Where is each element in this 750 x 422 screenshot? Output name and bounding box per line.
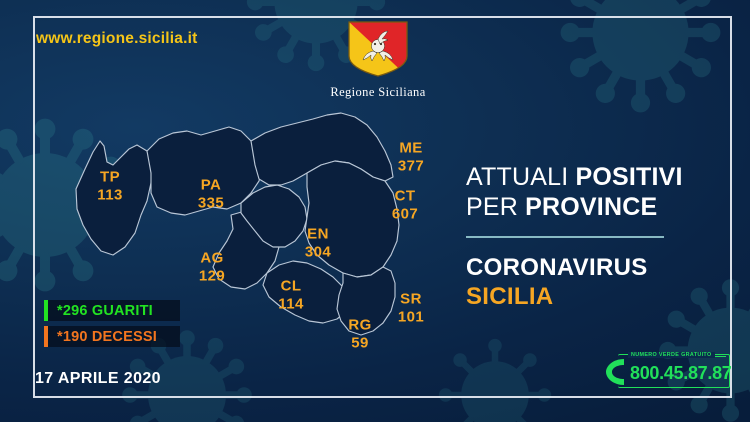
headline-line-1: ATTUALI POSITIVI — [466, 163, 706, 193]
trinacria-emblem-icon — [347, 20, 409, 78]
province-code-ct: CT — [392, 188, 418, 204]
logo-caption: Regione Siciliana — [323, 85, 433, 100]
infographic-canvas: www.regione.sicilia.it Region — [0, 0, 750, 422]
province-code-rg: RG — [348, 317, 371, 333]
virus-particle-icon — [548, 0, 733, 125]
province-label-en[interactable]: EN 304 — [305, 226, 331, 260]
province-value-sr: 101 — [398, 309, 424, 325]
regione-siciliana-logo: Regione Siciliana — [323, 20, 433, 100]
stat-guariti-label: *296 GUARITI — [48, 303, 153, 319]
province-label-tp[interactable]: TP 113 — [97, 169, 122, 203]
province-code-pa: PA — [198, 177, 224, 193]
date-label: 17 APRILE 2020 — [35, 370, 161, 388]
province-value-pa: 335 — [198, 195, 224, 211]
brand-coronavirus: CORONAVIRUS — [466, 254, 706, 283]
province-value-en: 304 — [305, 244, 331, 260]
province-label-ct[interactable]: CT 607 — [392, 188, 418, 222]
province-label-cl[interactable]: CL 114 — [278, 278, 303, 312]
toll-free-number: 800.45.87.87 — [630, 363, 732, 384]
headline-positivi: POSITIVI — [576, 163, 683, 191]
stat-guariti: *296 GUARITI — [44, 300, 180, 321]
province-label-sr[interactable]: SR 101 — [398, 291, 424, 325]
headline-block: ATTUALI POSITIVI PER PROVINCE CORONAVIRU… — [466, 163, 706, 312]
province-label-me[interactable]: ME 377 — [398, 140, 424, 174]
website-url[interactable]: www.regione.sicilia.it — [36, 30, 197, 48]
province-code-sr: SR — [398, 291, 424, 307]
province-code-ag: AG — [199, 250, 225, 266]
headline-province: PROVINCE — [525, 193, 657, 221]
province-label-ag[interactable]: AG 129 — [199, 250, 225, 284]
province-code-en: EN — [305, 226, 331, 242]
stat-decessi: *190 DECESSI — [44, 326, 180, 347]
stat-decessi-label: *190 DECESSI — [48, 329, 157, 345]
province-value-ag: 129 — [199, 268, 225, 284]
province-code-me: ME — [398, 140, 424, 156]
province-value-tp: 113 — [97, 187, 122, 203]
toll-free-number-block[interactable]: NUMERO VERDE GRATUITO 800.45.87.87 — [604, 354, 730, 388]
phone-handset-icon — [604, 357, 628, 387]
province-label-pa[interactable]: PA 335 — [198, 177, 224, 211]
province-shape-rg[interactable] — [263, 261, 349, 323]
headline-divider — [466, 236, 664, 238]
toll-free-caption: NUMERO VERDE GRATUITO — [628, 352, 715, 358]
province-label-rg[interactable]: RG 59 — [348, 317, 371, 351]
province-value-cl: 114 — [278, 296, 303, 312]
province-value-rg: 59 — [348, 335, 371, 351]
province-value-me: 377 — [398, 158, 424, 174]
brand-sicilia: SICILIA — [466, 283, 706, 312]
province-code-tp: TP — [97, 169, 122, 185]
province-value-ct: 607 — [392, 206, 418, 222]
province-code-cl: CL — [278, 278, 303, 294]
headline-line-2: PER PROVINCE — [466, 193, 706, 223]
headline-attuali: ATTUALI — [466, 163, 576, 191]
headline-per: PER — [466, 193, 525, 221]
